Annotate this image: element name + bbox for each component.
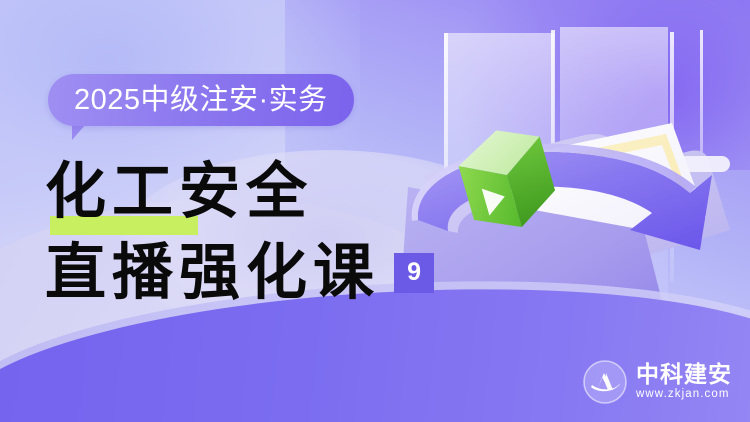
- course-category-badge-label: 2025中级注安·实务: [74, 86, 328, 115]
- brand-logo[interactable]: 中科建安 www.zkjan.com: [583, 360, 732, 404]
- brand-name: 中科建安: [636, 364, 732, 387]
- course-title-line-2: 直播强化课: [45, 233, 380, 314]
- course-title-line-2-row: 直播强化课 9: [45, 233, 465, 314]
- badge-tail-icon: [72, 124, 94, 140]
- course-title-line-1: 化工安全: [45, 152, 465, 233]
- mountain-swoosh-circle-icon: [583, 360, 627, 404]
- course-title-block: 化工安全 直播强化课 9: [45, 152, 465, 313]
- brand-url: www.zkjan.com: [636, 389, 732, 401]
- episode-number-badge: 9: [394, 253, 434, 293]
- course-category-badge: 2025中级注安·实务: [48, 74, 354, 126]
- brand-logo-text: 中科建安 www.zkjan.com: [636, 364, 732, 401]
- course-banner: 2025中级注安·实务 化工安全 直播强化课 9 中科建安 www.zkjan.…: [0, 0, 750, 422]
